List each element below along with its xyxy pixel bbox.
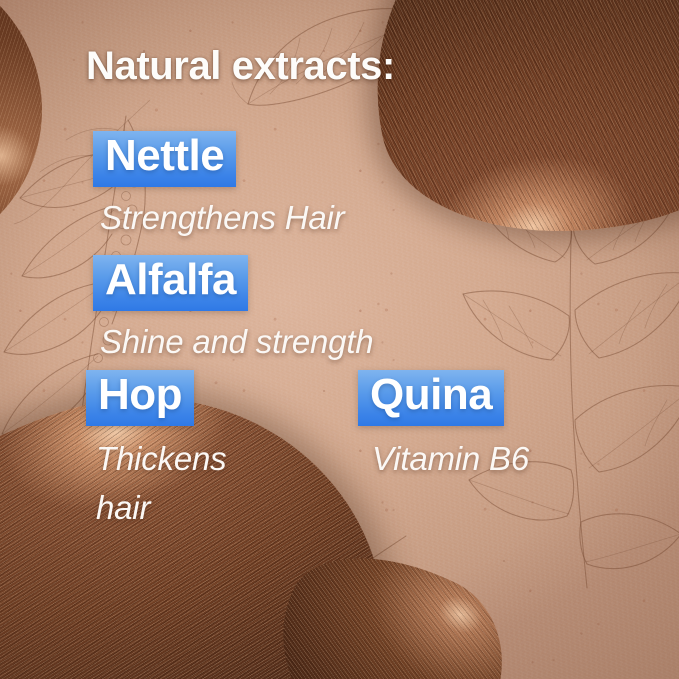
extract-benefit-alfalfa: Shine and strength [100, 323, 373, 361]
extract-chip-alfalfa: Alfalfa [93, 255, 248, 311]
extract-benefit-hop-line2: hair [96, 489, 150, 527]
content-layer: Natural extracts: Nettle Strengthens Hai… [0, 0, 679, 679]
poster-heading: Natural extracts: [86, 44, 395, 89]
extract-chip-hop: Hop [86, 370, 194, 426]
extract-chip-nettle: Nettle [93, 131, 236, 187]
extract-chip-quina: Quina [358, 370, 504, 426]
extract-benefit-nettle: Strengthens Hair [100, 199, 344, 237]
extract-benefit-quina: Vitamin B6 [372, 440, 529, 478]
product-feature-poster: Natural extracts: Nettle Strengthens Hai… [0, 0, 679, 679]
extract-benefit-hop-line1: Thickens [96, 440, 226, 478]
